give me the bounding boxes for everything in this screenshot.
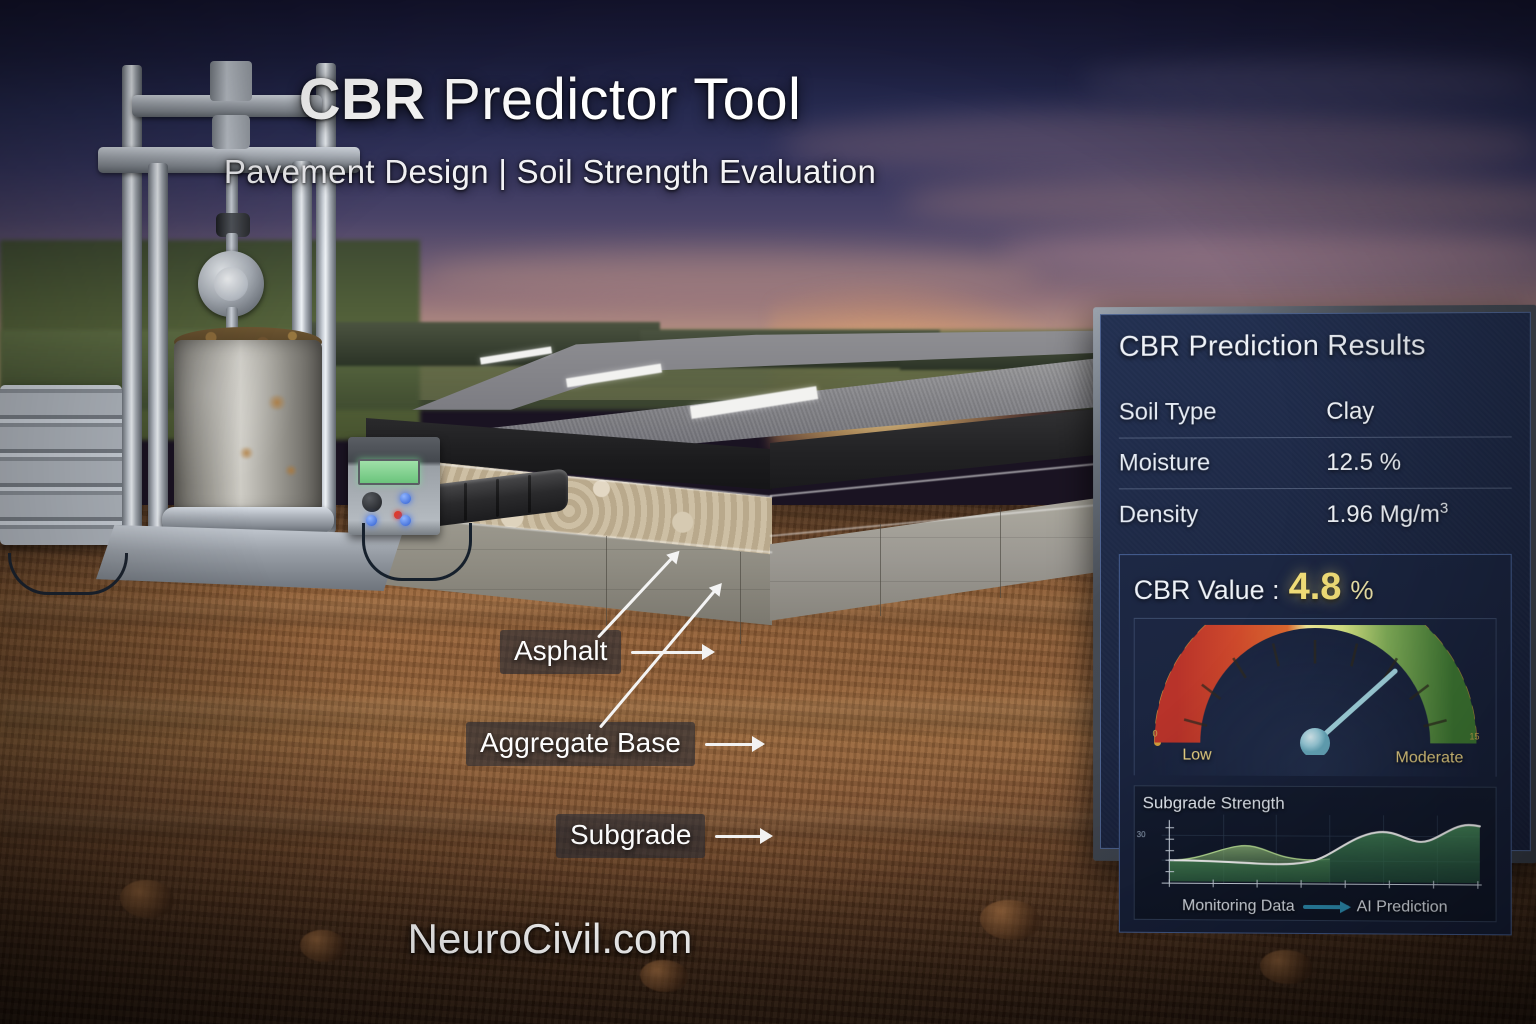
table-row: Density 1.96 Mg/m3	[1119, 488, 1512, 541]
gauge-max-tick: 15	[1469, 731, 1479, 741]
control-box	[348, 437, 440, 535]
results-panel-title: CBR Prediction Results	[1119, 329, 1512, 378]
gauge-moderate-label: Moderate	[1396, 749, 1464, 767]
table-row: Soil Type Clay	[1119, 386, 1512, 437]
subgrade-strength-chart: Subgrade Strength	[1134, 785, 1497, 922]
table-row: Moisture 12.5 %	[1119, 436, 1512, 488]
cbr-value-line: CBR Value : 4.8 %	[1134, 566, 1497, 609]
callout-asphalt: Asphalt	[500, 630, 713, 674]
chart-y-tick-label: 30	[1137, 830, 1146, 839]
poster-canvas: CBR Predictor Tool Pavement Design | Soi…	[0, 0, 1536, 1024]
dial-gauge-face	[214, 267, 248, 301]
cbr-result-block: CBR Value : 4.8 %	[1119, 554, 1512, 936]
subgrade-joint	[606, 536, 607, 626]
mold-rust-spot	[284, 465, 298, 476]
results-panel: CBR Prediction Results Soil Type Clay Mo…	[1093, 305, 1536, 863]
legend-ai-prediction: AI Prediction	[1357, 899, 1448, 918]
spec-table: Soil Type Clay Moisture 12.5 % Density 1…	[1119, 386, 1512, 540]
chart-svg	[1143, 814, 1488, 898]
cbr-value-label: CBR Value :	[1134, 575, 1280, 606]
spec-value: 12.5 %	[1326, 448, 1511, 477]
pipe-rib	[528, 475, 531, 513]
pipe-rib	[496, 479, 499, 517]
spec-value-exponent: 3	[1440, 500, 1448, 517]
poster-header: CBR Predictor Tool Pavement Design | Soi…	[0, 70, 1100, 191]
legend-monitoring-data: Monitoring Data	[1182, 898, 1295, 917]
page-subtitle: Pavement Design | Soil Strength Evaluati…	[0, 153, 1100, 191]
callout-subgrade: Subgrade	[556, 814, 771, 858]
lcd-display	[358, 459, 420, 485]
cbr-mold	[174, 340, 322, 515]
callout-subgrade-arrow	[715, 835, 771, 838]
footer-site: NeuroCivil.com	[0, 915, 1100, 963]
page-title: CBR Predictor Tool	[0, 70, 1100, 131]
spec-value-text: 1.96 Mg/m	[1326, 501, 1440, 528]
cbr-gauge: 0 15 Low Moderate	[1134, 618, 1497, 777]
subgrade-joint	[1000, 508, 1001, 598]
chart-title: Subgrade Strength	[1143, 793, 1488, 815]
subgrade-joint	[880, 524, 881, 616]
spec-key: Moisture	[1119, 449, 1326, 477]
callout-asphalt-arrow	[631, 651, 713, 654]
page-title-rest: Predictor Tool	[426, 67, 802, 132]
spec-key: Density	[1119, 501, 1326, 529]
callout-aggregate-base-label: Aggregate Base	[466, 722, 695, 766]
chart-legend: Monitoring Data AI Prediction	[1143, 896, 1488, 917]
indicator-led	[400, 493, 411, 504]
callout-asphalt-label: Asphalt	[500, 630, 621, 674]
cbr-value-unit: %	[1350, 575, 1373, 606]
callout-aggregate-base-arrow	[705, 743, 763, 746]
cloud-band	[1080, 60, 1536, 104]
mold-rust-spot	[238, 447, 255, 459]
gauge-svg	[1127, 625, 1503, 756]
spec-value: Clay	[1326, 397, 1511, 426]
load-frame-post	[148, 163, 168, 535]
gauge-min-tick: 0	[1153, 729, 1158, 739]
legend-arrow-icon	[1303, 905, 1349, 909]
power-cable	[362, 523, 472, 581]
page-title-bold: CBR	[299, 67, 426, 132]
callout-subgrade-label: Subgrade	[556, 814, 705, 858]
soil-clod	[120, 880, 174, 918]
spec-value: 1.96 Mg/m3	[1326, 500, 1511, 529]
gauge-low-label: Low	[1182, 747, 1211, 765]
sieve-stack	[0, 385, 122, 545]
cbr-value-number: 4.8	[1289, 566, 1342, 609]
subgrade-joint	[740, 552, 741, 644]
cloud-band	[1000, 230, 1536, 276]
soil-clod	[640, 960, 688, 992]
soil-clod	[1260, 950, 1312, 984]
control-knob[interactable]	[362, 492, 382, 512]
callout-aggregate-base: Aggregate Base	[466, 722, 763, 766]
mold-rust-spot	[266, 395, 288, 410]
results-panel-inner: CBR Prediction Results Soil Type Clay Mo…	[1100, 312, 1531, 851]
pipe-rib	[464, 483, 467, 521]
gauge-needle	[1314, 671, 1394, 743]
spec-key: Soil Type	[1119, 398, 1326, 427]
